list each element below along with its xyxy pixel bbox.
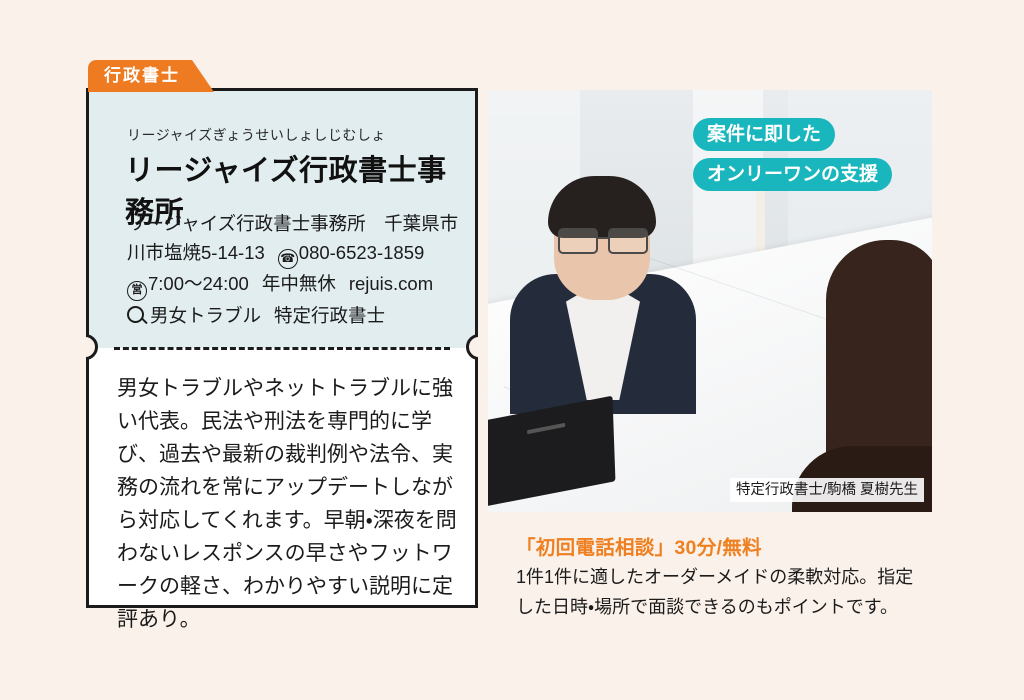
contact-hours: 7:00〜24:00 (148, 273, 249, 294)
perforation-divider (114, 347, 450, 350)
person-glasses (556, 228, 650, 250)
search-icon (127, 306, 144, 323)
profile-description: 男女トラブルやネットトラブルに強い代表。民法や刑法を専門的に学び、過去や最新の裁… (117, 372, 457, 636)
contact-website[interactable]: rejuis.com (349, 273, 433, 294)
offer-headline: 「初回電話相談」30分/無料 (516, 531, 762, 560)
glasses-lens-right (608, 228, 648, 254)
photo-caption: 特定行政書士/駒橋 夏樹先生 (730, 478, 924, 502)
contact-block: リージャイズ行政書士事務所 千葉県市 川市塩焼5-14-13☎080-6523-… (127, 209, 461, 330)
contact-phone-number[interactable]: 080-6523-1859 (299, 242, 425, 263)
contact-address-line-1: リージャイズ行政書士事務所 千葉県市 (127, 209, 461, 238)
glasses-lens-left (558, 228, 598, 254)
search-keyword-2[interactable]: 特定行政書士 (274, 305, 385, 326)
card-bottom-section: 男女トラブルやネットトラブルに強い代表。民法や刑法を専門的に学び、過去や最新の裁… (86, 348, 478, 608)
contact-holidays: 年中無休 (262, 273, 336, 294)
office-consultation-photo: 案件に即した オンリーワンの支援 特定行政書士/駒橋 夏樹先生 (488, 90, 932, 512)
contact-address-line-2: 川市塩焼5-14-13☎080-6523-1859 (127, 238, 461, 269)
office-name-furigana: リージャイズぎょうせいしょしじむしょ (127, 125, 386, 145)
photo-badge-2: オンリーワンの支援 (693, 158, 892, 191)
contact-hours-line: 営7:00〜24:00年中無休rejuis.com (127, 269, 461, 301)
profile-ticket-card: リージャイズぎょうせいしょしじむしょ リージャイズ行政書士事務所 リージャイズ行… (86, 88, 478, 608)
photo-badge-1: 案件に即した (693, 118, 835, 151)
card-top-section: リージャイズぎょうせいしょしじむしょ リージャイズ行政書士事務所 リージャイズ行… (86, 88, 478, 348)
category-tab: 行政書士 (88, 60, 214, 92)
offer-body-text: 1件1件に適したオーダーメイドの柔軟対応。指定した日時・場所で面談できるのもポイ… (516, 562, 916, 622)
contact-search-line: 男女トラブル特定行政書士 (127, 301, 461, 330)
phone-circle-icon: ☎ (278, 249, 298, 269)
search-keyword-1[interactable]: 男女トラブル (150, 305, 261, 326)
ticket-notch-left (72, 334, 98, 360)
consultant-person (510, 162, 696, 412)
business-hours-circle-icon: 営 (127, 281, 147, 301)
contact-address-text: 川市塩焼5-14-13 (127, 242, 265, 263)
